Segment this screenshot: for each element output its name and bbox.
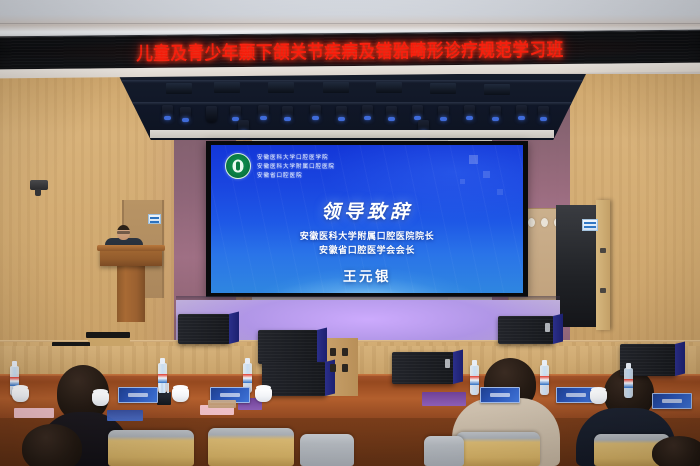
- pen-holder: [157, 392, 171, 405]
- chair[interactable]: [456, 432, 540, 466]
- teacup: [590, 390, 607, 404]
- slide-institution-header: 安徽医科大学口腔医学院 安徽医科大学附属口腔医院 安徽省口腔医院: [225, 153, 335, 179]
- exit-sign: [582, 219, 598, 231]
- name-placard: [480, 387, 520, 403]
- stage-speaker-1: [178, 314, 230, 344]
- stage-speaker-4: [392, 352, 454, 384]
- rack-slot: [342, 364, 348, 372]
- water-bottle: [158, 363, 167, 393]
- lectern-base: [117, 260, 145, 322]
- stage-speaker-2: [258, 330, 318, 364]
- teacup: [172, 388, 189, 402]
- chair[interactable]: [208, 428, 294, 466]
- presenter-glasses-icon: [117, 231, 130, 234]
- teacup: [255, 388, 272, 402]
- lectern-lip: [97, 245, 165, 251]
- name-placard: [652, 393, 692, 409]
- ceiling-seam: [0, 23, 700, 24]
- slide-subtitle-line-1: 安徽医科大学附属口腔医院院长: [300, 231, 434, 245]
- rack-slot: [342, 348, 348, 356]
- institution-line-2: 安徽医科大学附属口腔医院: [257, 162, 335, 170]
- folder: [208, 400, 236, 408]
- stage-speaker-5: [498, 316, 554, 344]
- side-door-open-panel[interactable]: [596, 200, 610, 330]
- rack-slot: [330, 364, 336, 372]
- attendee-head: [22, 424, 82, 466]
- projection-screen: 安徽医科大学口腔医学院 安徽医科大学附属口腔医院 安徽省口腔医院 领导致辞 安徽…: [211, 145, 523, 293]
- ceiling-light-slot: [150, 130, 554, 138]
- rack-slot: [330, 348, 336, 356]
- teacup: [12, 388, 29, 402]
- water-bottle: [540, 365, 549, 395]
- teacup: [92, 392, 109, 406]
- program-booklet: [107, 410, 143, 421]
- slide-subtitle-line-2: 安徽省口腔医学会会长: [319, 245, 415, 259]
- door-hinge-icon: [600, 248, 606, 253]
- name-placard: [118, 387, 158, 403]
- lecture-hall-photo: 儿童及青少年颞下颌关节疾病及错𬌗畸形诊疗规范学习班 安徽医科大学口腔医学院 安徽…: [0, 0, 700, 466]
- slide-title: 领导致辞: [321, 197, 413, 224]
- attendee-head: [652, 436, 700, 466]
- wall-camera-icon: [30, 180, 48, 190]
- slide-speaker-name: 王元银: [343, 265, 391, 285]
- led-banner-text: 儿童及青少年颞下颌关节疾病及错𬌗畸形诊疗规范学习班: [136, 35, 564, 66]
- water-bottle: [470, 365, 479, 395]
- door-sign-left: [148, 214, 161, 224]
- door-hinge-icon: [600, 288, 606, 293]
- projection-screen-frame: 安徽医科大学口腔医学院 安徽医科大学附属口腔医院 安徽省口腔医院 领导致辞 安徽…: [206, 141, 528, 297]
- institution-line-3: 安徽省口腔医院: [257, 171, 335, 179]
- chair[interactable]: [424, 436, 464, 466]
- purple-folder: [422, 392, 466, 406]
- chair[interactable]: [300, 434, 354, 466]
- chair[interactable]: [108, 430, 194, 466]
- water-bottle: [624, 368, 633, 398]
- institution-line-1: 安徽医科大学口腔医学院: [257, 153, 335, 161]
- university-emblem-icon: [225, 153, 251, 179]
- document-paper: [14, 408, 54, 418]
